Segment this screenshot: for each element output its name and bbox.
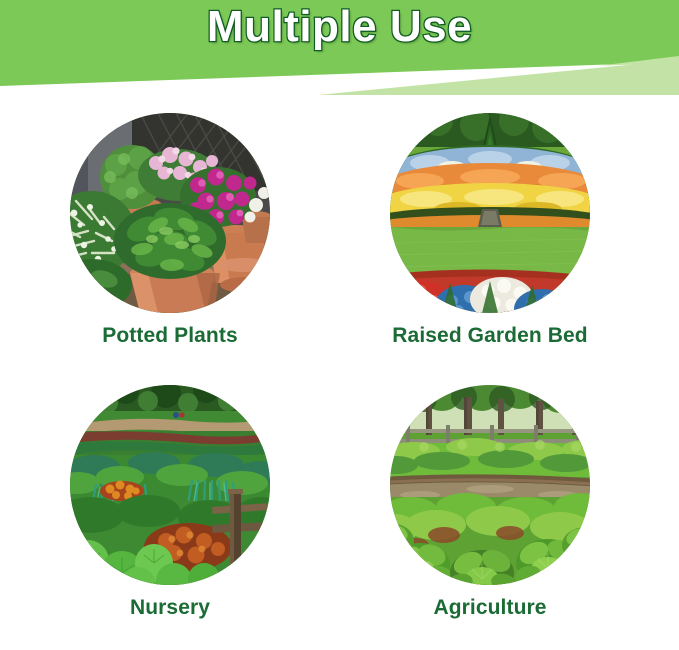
- potted-plants-illustration: [70, 113, 270, 313]
- page-title-text: Multiple Use: [207, 2, 472, 51]
- header-banner: Multiple Use: [0, 0, 679, 95]
- use-card-agriculture: Agriculture: [340, 385, 640, 620]
- page-title: Multiple Use: [0, 4, 679, 50]
- use-label-nursery: Nursery: [20, 596, 320, 620]
- raised-garden-bed-photo: [390, 113, 590, 313]
- use-card-potted-plants: Potted Plants: [20, 113, 320, 348]
- use-card-nursery: Nursery: [20, 385, 320, 620]
- agriculture-photo: [390, 385, 590, 585]
- nursery-photo: [70, 385, 270, 585]
- agriculture-illustration: [390, 385, 590, 585]
- use-card-raised-garden-bed: Raised Garden Bed: [340, 113, 640, 348]
- use-label-potted-plants: Potted Plants: [20, 324, 320, 348]
- potted-plants-photo: [70, 113, 270, 313]
- use-label-raised-garden-bed: Raised Garden Bed: [340, 324, 640, 348]
- use-label-agriculture: Agriculture: [340, 596, 640, 620]
- raised-garden-bed-illustration: [390, 113, 590, 313]
- nursery-illustration: [70, 385, 270, 585]
- uses-grid: Potted Plants: [0, 95, 679, 650]
